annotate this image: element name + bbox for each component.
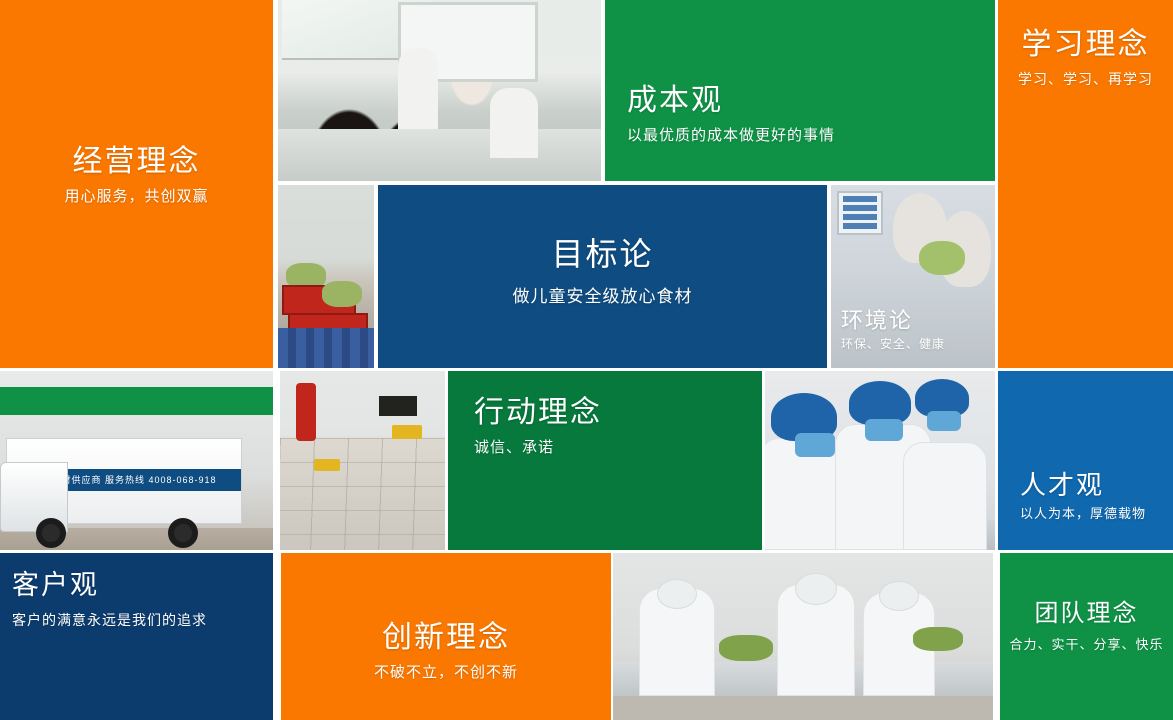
learning-philosophy-subtitle: 学习、学习、再学习 — [998, 70, 1173, 88]
meeting-photo[interactable] — [278, 0, 601, 181]
vegetable-pile-1 — [719, 635, 773, 661]
delivery-truck-photo[interactable]: 安全食材供应商 服务热线 4008-068-918 — [0, 371, 273, 550]
yellow-crate-2 — [314, 459, 340, 471]
blue-pallet — [278, 328, 374, 368]
cost-view-text: 成本观 以最优质的成本做更好的事情 — [627, 84, 981, 146]
talent-view-title: 人才观 — [1020, 471, 1165, 500]
customer-view-text: 客户观 客户的满意永远是我们的追求 — [12, 571, 267, 629]
inspection-photo[interactable] — [765, 371, 995, 550]
customer-view-subtitle: 客户的满意永远是我们的追求 — [12, 611, 267, 629]
team-philosophy-subtitle: 合力、实干、分享、快乐 — [1000, 637, 1173, 654]
lettuce-leaf — [919, 241, 965, 275]
business-philosophy-subtitle: 用心服务，共创双赢 — [0, 187, 273, 207]
inspector-coat-3 — [903, 442, 987, 550]
business-philosophy-title: 经营理念 — [0, 145, 273, 178]
test-strip — [843, 196, 877, 202]
environment-theory-title: 环境论 — [841, 309, 989, 333]
truck-wheel-front — [36, 518, 66, 548]
test-strip — [843, 223, 877, 229]
talent-view-subtitle: 以人为本，厚德载物 — [1020, 506, 1165, 523]
learning-philosophy-text: 学习理念 学习、学习、再学习 — [998, 28, 1173, 88]
inspector-mask-3 — [927, 411, 961, 431]
yellow-crate-1 — [392, 425, 422, 439]
inspector-mask-2 — [865, 419, 903, 441]
environment-theory-subtitle: 环保、安全、健康 — [841, 337, 989, 353]
tile-talent-view[interactable]: 人才观 以人为本，厚德载物 — [998, 371, 1173, 550]
learning-philosophy-title: 学习理念 — [998, 28, 1173, 61]
test-strip-tray — [837, 191, 883, 235]
lab-sample-photo[interactable]: 环境论 环保、安全、健康 — [831, 185, 995, 368]
vegetable-pile-2 — [913, 627, 963, 651]
action-philosophy-subtitle: 诚信、承诺 — [474, 438, 762, 458]
tile-action-philosophy[interactable]: 行动理念 诚信、承诺 — [448, 371, 762, 550]
innovation-philosophy-text: 创新理念 不破不立，不创不新 — [281, 621, 611, 683]
environment-theory-text: 环境论 环保、安全、健康 — [841, 309, 989, 353]
tile-learning-philosophy[interactable]: 学习理念 学习、学习、再学习 — [998, 0, 1173, 368]
worker-cap-2 — [795, 573, 837, 605]
worker-cap-1 — [657, 579, 697, 609]
team-philosophy-text: 团队理念 合力、实干、分享、快乐 — [1000, 601, 1173, 654]
goal-theory-title: 目标论 — [378, 237, 827, 272]
goal-theory-text: 目标论 做儿童安全级放心食材 — [378, 237, 827, 308]
action-philosophy-title: 行动理念 — [474, 396, 762, 429]
cost-view-title: 成本观 — [627, 84, 981, 117]
action-philosophy-text: 行动理念 诚信、承诺 — [474, 396, 762, 458]
person-seated — [490, 88, 538, 158]
person-standing — [398, 48, 438, 138]
talent-view-text: 人才观 以人为本，厚德载物 — [1020, 471, 1165, 522]
worker-cap-3 — [879, 581, 919, 611]
innovation-philosophy-subtitle: 不破不立，不创不新 — [281, 663, 611, 683]
processing-floor — [613, 696, 993, 720]
tile-team-philosophy[interactable]: 团队理念 合力、实干、分享、快乐 — [1000, 553, 1173, 720]
tiled-floor — [280, 438, 445, 550]
tile-goal-theory[interactable]: 目标论 做儿童安全级放心食材 — [378, 185, 827, 368]
vegetable-bundle-2 — [322, 281, 362, 307]
tile-business-philosophy[interactable]: 经营理念 用心服务，共创双赢 — [0, 0, 273, 368]
tile-customer-view[interactable]: 客户观 客户的满意永远是我们的追求 — [0, 553, 273, 720]
kitchen-photo[interactable] — [280, 371, 445, 550]
test-strip — [843, 214, 877, 220]
fire-extinguisher — [296, 383, 316, 441]
cost-view-subtitle: 以最优质的成本做更好的事情 — [627, 126, 981, 146]
truck-wheel-rear — [168, 518, 198, 548]
innovation-philosophy-title: 创新理念 — [281, 621, 611, 654]
goal-theory-subtitle: 做儿童安全级放心食材 — [378, 286, 827, 308]
team-philosophy-title: 团队理念 — [1000, 601, 1173, 627]
culture-wall-board: 经营理念 用心服务，共创双赢 成本观 以最优质的成本做更好的事情 学习理念 学习… — [0, 0, 1173, 720]
wall-panel — [376, 393, 420, 419]
tile-innovation-philosophy[interactable]: 创新理念 不破不立，不创不新 — [281, 553, 611, 720]
vegetables-photo[interactable] — [278, 185, 374, 368]
inspector-mask-1 — [795, 433, 835, 457]
processing-photo[interactable] — [613, 553, 993, 720]
meeting-table — [278, 129, 601, 181]
test-strip — [843, 205, 877, 211]
customer-view-title: 客户观 — [12, 571, 267, 601]
tile-cost-view[interactable]: 成本观 以最优质的成本做更好的事情 — [605, 0, 995, 181]
business-philosophy-text: 经营理念 用心服务，共创双赢 — [0, 145, 273, 207]
green-backdrop-band — [0, 387, 273, 415]
